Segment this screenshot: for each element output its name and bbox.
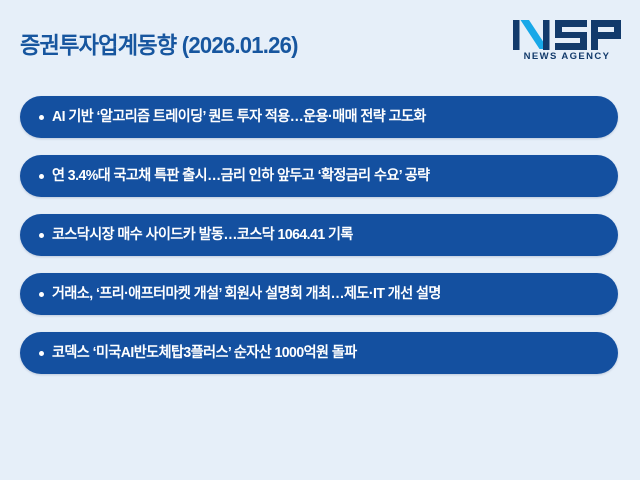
news-list: AI 기반 ‘알고리즘 트레이딩’ 퀀트 투자 적용…운용·매매 전략 고도화 … [0,96,640,374]
page-title: 증권투자업계동향 (2026.01.26) [20,30,298,60]
list-item[interactable]: 연 3.4%대 국고채 특판 출시…금리 인하 앞두고 ‘확정금리 수요’ 공략 [20,155,618,197]
bullet-icon [39,292,44,297]
list-item[interactable]: 코스닥시장 매수 사이드카 발동…코스닥 1064.41 기록 [20,214,618,256]
logo-subtitle: NEWS AGENCY [512,51,622,62]
bullet-icon [39,351,44,356]
nsp-logo: NEWS AGENCY [512,18,622,70]
list-item[interactable]: AI 기반 ‘알고리즘 트레이딩’ 퀀트 투자 적용…운용·매매 전략 고도화 [20,96,618,138]
list-item[interactable]: 코덱스 ‘미국AI반도체탑3플러스’ 순자산 1000억원 돌파 [20,332,618,374]
bullet-icon [39,115,44,120]
bullet-icon [39,233,44,238]
news-headline: 연 3.4%대 국고채 특판 출시…금리 인하 앞두고 ‘확정금리 수요’ 공략 [52,166,601,186]
header: 증권투자업계동향 (2026.01.26) NEWS AGENCY [0,0,640,88]
list-item[interactable]: 거래소, ‘프리·애프터마켓 개설’ 회원사 설명회 개최…제도·IT 개선 설… [20,273,618,315]
nsp-logo-mark [512,18,622,52]
news-summary-card: 증권투자업계동향 (2026.01.26) NEWS AGENCY AI 기반 … [0,0,640,480]
bullet-icon [39,174,44,179]
news-headline: 거래소, ‘프리·애프터마켓 개설’ 회원사 설명회 개최…제도·IT 개선 설… [52,284,601,304]
news-headline: AI 기반 ‘알고리즘 트레이딩’ 퀀트 투자 적용…운용·매매 전략 고도화 [52,107,601,127]
news-headline: 코덱스 ‘미국AI반도체탑3플러스’ 순자산 1000억원 돌파 [52,343,601,363]
news-headline: 코스닥시장 매수 사이드카 발동…코스닥 1064.41 기록 [52,225,601,245]
